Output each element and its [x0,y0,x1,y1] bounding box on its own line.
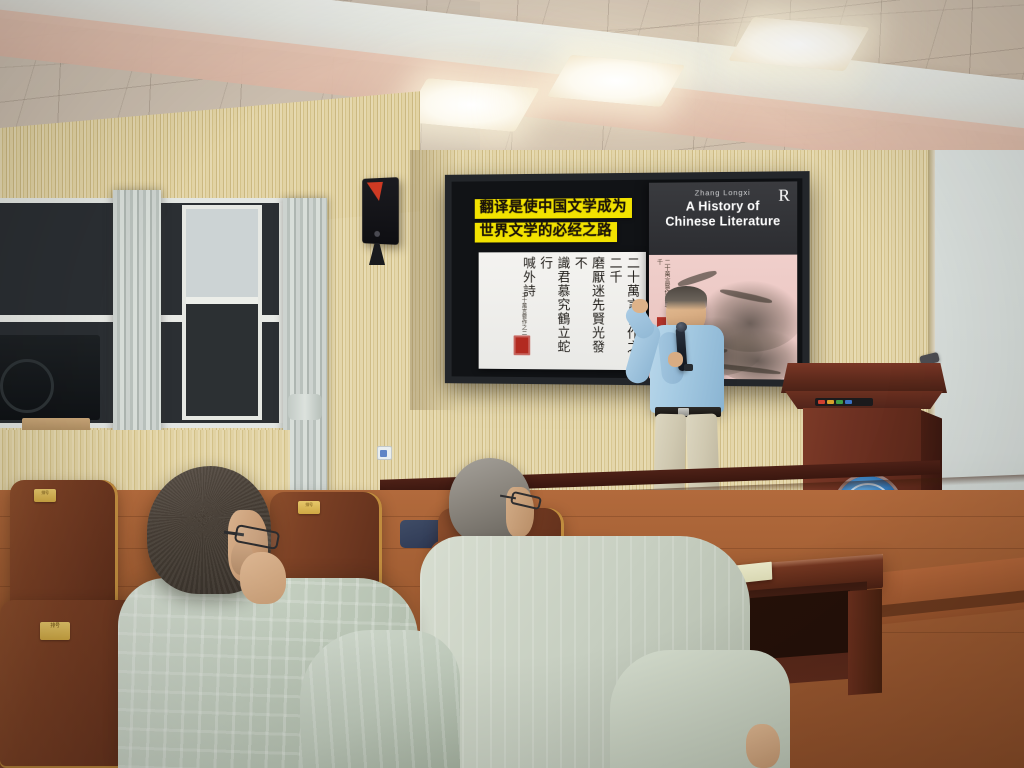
seat-trim [10,480,118,620]
microphone-head [676,322,687,332]
audience-front-hand [240,552,286,604]
audience-front-arm [300,630,460,768]
presenter-mic-hand [668,352,683,367]
presenter-hair [665,286,707,310]
seat-number-plate: 排号 [298,501,320,514]
led-amber [827,400,834,404]
book-title: A History of Chinese Literature [649,199,797,230]
presenter-raised-hand [632,299,648,313]
led-blue [845,400,852,404]
speaker-led [374,231,380,237]
presentation-slide: 翻译是使中国文学成为 世界文学的必经之路 二十萬言嘗作之二千 磨厭迷先賢光發不 … [452,178,803,379]
slide-headline-line-2: 世界文学的必经之路 [475,222,617,243]
slide-calligraphy-image: 二十萬言嘗作之二千 磨厭迷先賢光發不 識君慕究鶴立蛇行 喊外詩 二十萬言嘗作之二… [479,252,646,370]
led-green [836,400,843,404]
curtain-tieback[interactable] [288,394,322,420]
outlet-indicator [380,450,387,457]
seat-number-plate: 排号 [34,489,56,502]
wall-outlet[interactable] [377,446,392,460]
window-glass-frosted [186,209,258,297]
podium-indicator-lights[interactable] [815,398,873,406]
seat-number-plate: 排号 [40,622,70,640]
calligraphy-red-seal [514,335,531,355]
window-right [182,205,262,420]
wristwatch [684,364,693,371]
window-glass [186,304,258,416]
loudspeaker-icon [362,177,399,245]
podium-top-surface [781,363,947,393]
audience-middle-hand [746,724,780,768]
speaker-cone [0,359,54,413]
av-equipment-rack [0,335,100,420]
speaker-red-accent [367,182,383,201]
slide-headline-line-1: 翻译是使中国文学成为 [475,198,632,219]
led-red [818,400,825,404]
calligraphy-main-text: 二十萬言嘗作之二千 磨厭迷先賢光發不 識君慕究鶴立蛇行 喊外詩 [519,256,640,360]
book-title-line-1: A History of [686,199,760,214]
auditorium-seat[interactable]: 排号 [10,480,118,620]
book-author-name: Zhang Longxi [649,187,797,197]
table-leg [848,589,882,696]
book-title-line-2: Chinese Literature [665,214,780,229]
projection-screen: 翻译是使中国文学成为 世界文学的必经之路 二十萬言嘗作之二千 磨厭迷先賢光發不 … [445,171,810,387]
lecture-hall-photo: 翻译是使中国文学成为 世界文学的必经之路 二十萬言嘗作之二千 磨厭迷先賢光發不 … [0,0,1024,768]
